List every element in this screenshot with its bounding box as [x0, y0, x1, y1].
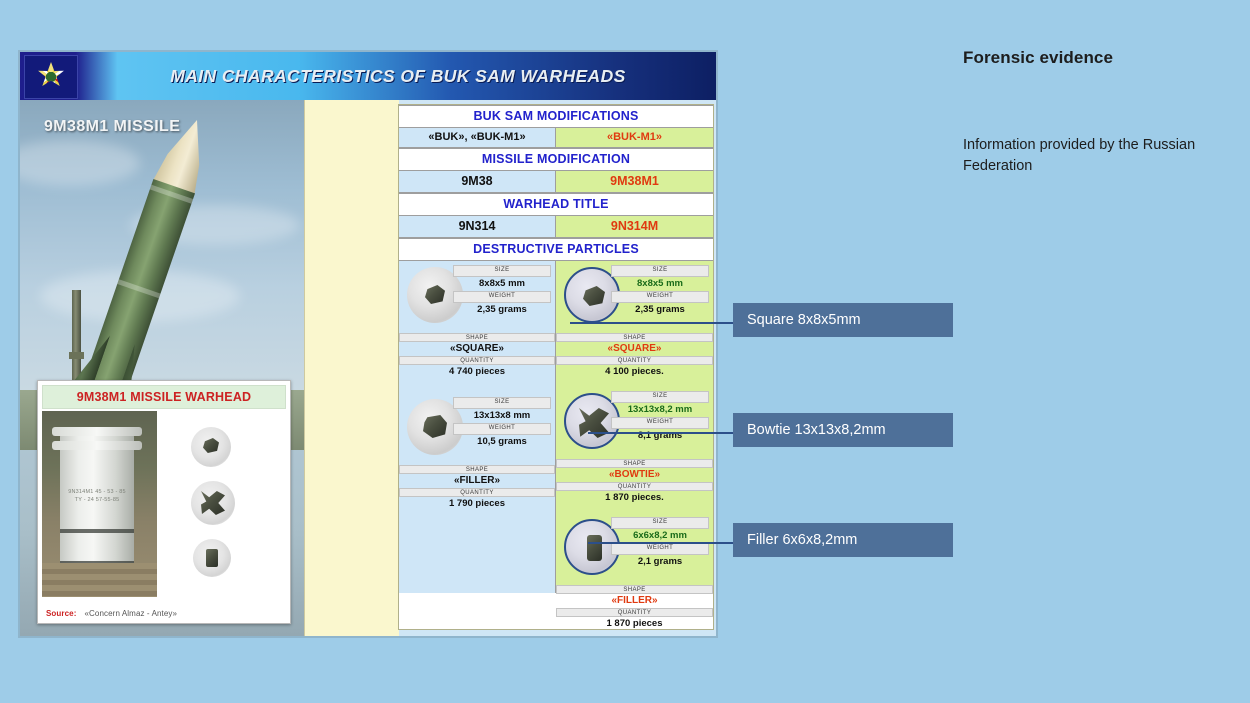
label-weight: weight [611, 543, 709, 555]
particles-column-9n314: size 8x8x5 mm weight 2,35 grams shape «S… [399, 261, 556, 593]
connector-line-square [570, 322, 735, 324]
particle-shape-row: shape «FILLER» quantity 1 790 pieces [399, 465, 555, 511]
table-header-missile-modification: MISSILE MODIFICATION [399, 148, 713, 171]
value-shape: «BOWTIE» [556, 468, 713, 482]
label-quantity: quantity [556, 608, 713, 617]
filler-fragment-icon [587, 535, 602, 561]
value-shape: «FILLER» [556, 594, 713, 608]
canister-ring [60, 529, 134, 533]
table-row: 9N314 9N314M [399, 216, 713, 238]
connector-line-bowtie [588, 432, 735, 434]
particle-visual-row: size 6x6x8,2 mm weight 2,1 grams [556, 513, 713, 585]
particle-group-bowtie-right: size 13x13x8,2 mm weight 8,1 grams shape… [556, 387, 713, 505]
label-shape: shape [399, 333, 555, 342]
missile-caption: 9M38M1 MISSILE [44, 118, 180, 136]
cell-missile-modification-right: 9M38M1 [556, 171, 713, 193]
value-size: 8x8x5 mm [453, 277, 551, 291]
particle-visual-row: size 8x8x5 mm weight 2,35 grams [399, 261, 555, 333]
value-quantity: 1 870 pieces. [556, 491, 713, 505]
particle-group-filler-right: size 6x6x8,2 mm weight 2,1 grams shape «… [556, 513, 713, 631]
label-shape: shape [556, 459, 713, 468]
label-quantity: quantity [399, 356, 555, 365]
label-weight: weight [611, 417, 709, 429]
square-fragment-icon [425, 285, 445, 304]
filler-fragment-icon [423, 415, 447, 438]
label-quantity: quantity [399, 488, 555, 497]
label-size: size [611, 517, 709, 529]
cell-buk-modifications-left: «BUK», «BUK-M1» [399, 128, 556, 148]
emblem-container [24, 55, 78, 99]
filler-fragment-icon [206, 549, 218, 567]
label-size: size [611, 391, 709, 403]
slide-title: MAIN CHARACTERISTICS OF BUK SAM WARHEADS [80, 52, 716, 100]
canister-rim-second [52, 441, 142, 450]
value-quantity: 1 870 pieces [556, 617, 713, 631]
value-weight: 10,5 grams [453, 435, 551, 449]
label-shape: shape [556, 585, 713, 594]
value-weight: 2,35 grams [611, 303, 709, 317]
particle-group-square-right: size 8x8x5 mm weight 2,35 grams shape «S… [556, 261, 713, 379]
presentation-slide: MAIN CHARACTERISTICS OF BUK SAM WARHEADS… [18, 50, 718, 638]
value-shape: «SQUARE» [399, 342, 555, 356]
label-size: size [611, 265, 709, 277]
value-shape: «FILLER» [399, 474, 555, 488]
particle-shape-row: shape «SQUARE» quantity 4 740 pieces [399, 333, 555, 379]
value-quantity: 4 740 pieces [399, 365, 555, 379]
value-quantity: 4 100 pieces. [556, 365, 713, 379]
particle-group-square-left: size 8x8x5 mm weight 2,35 grams shape «S… [399, 261, 555, 379]
particle-fields: size 8x8x5 mm weight 2,35 grams [611, 265, 709, 317]
label-weight: weight [611, 291, 709, 303]
table-row: 9M38 9M38M1 [399, 171, 713, 193]
canister-markings: 9N314M1 45 - 53 - 85 TY - 24 57-55-85 [66, 489, 128, 505]
label-quantity: quantity [556, 356, 713, 365]
value-size: 8x8x5 mm [611, 277, 709, 291]
page-subtitle: Information provided by the Russian Fede… [963, 135, 1213, 176]
canister-rim-top [52, 427, 142, 436]
particle-visual-row: size 13x13x8 mm weight 10,5 grams [399, 393, 555, 465]
missile-photo-panel: 9M38M1 MISSILE 9M38M1 MISSILE WARHEAD 9N… [20, 100, 304, 636]
table-header-destructive-particles: DESTRUCTIVE PARTICLES [399, 238, 713, 261]
cell-warhead-title-right: 9N314M [556, 216, 713, 238]
value-weight: 2,1 grams [611, 555, 709, 569]
table-row: «BUK», «BUK-M1» «BUK-M1» [399, 128, 713, 148]
cell-buk-modifications-right: «BUK-M1» [556, 128, 713, 148]
label-quantity: quantity [556, 482, 713, 491]
connector-line-filler [588, 542, 735, 544]
particle-shape-row: shape «FILLER» quantity 1 870 pieces [556, 585, 713, 631]
label-size: size [453, 397, 551, 409]
wooden-pallet [42, 563, 157, 597]
characteristics-table: BUK SAM MODIFICATIONS «BUK», «BUK-M1» «B… [398, 104, 714, 630]
particle-fields: size 13x13x8 mm weight 10,5 grams [453, 397, 551, 449]
antenna-pole-cap [69, 352, 84, 359]
value-size: 6x6x8,2 mm [611, 529, 709, 543]
cell-missile-modification-left: 9M38 [399, 171, 556, 193]
label-size: size [453, 265, 551, 277]
value-shape: «SQUARE» [556, 342, 713, 356]
page-title: Forensic evidence [963, 48, 1113, 68]
cell-warhead-title-left: 9N314 [399, 216, 556, 238]
warhead-card-body: 9N314M1 45 - 53 - 85 TY - 24 57-55-85 [42, 411, 286, 597]
value-weight: 2,35 grams [453, 303, 551, 317]
value-size: 13x13x8,2 mm [611, 403, 709, 417]
slide-header: MAIN CHARACTERISTICS OF BUK SAM WARHEADS [20, 52, 716, 100]
particle-group-filler-left: size 13x13x8 mm weight 10,5 grams shape … [399, 393, 555, 511]
warhead-source-line: Source:«Concern Almaz - Antey» [46, 609, 286, 618]
particle-visual-row: size 13x13x8,2 mm weight 8,1 grams [556, 387, 713, 459]
warhead-canister-photo: 9N314M1 45 - 53 - 85 TY - 24 57-55-85 [42, 411, 157, 597]
yellow-divider-strip [304, 100, 399, 636]
particle-fields: size 8x8x5 mm weight 2,35 grams [453, 265, 551, 317]
value-size: 13x13x8 mm [453, 409, 551, 423]
warhead-photo-card: 9M38M1 MISSILE WARHEAD 9N314M1 45 - 53 -… [37, 380, 291, 624]
table-header-modifications: BUK SAM MODIFICATIONS [399, 105, 713, 128]
cloud-shape [20, 140, 140, 186]
particle-fields: size 13x13x8,2 mm weight 8,1 grams [611, 391, 709, 443]
callout-square: Square 8x8x5mm [733, 303, 953, 337]
label-weight: weight [453, 291, 551, 303]
source-value: «Concern Almaz - Antey» [85, 609, 178, 618]
value-quantity: 1 790 pieces [399, 497, 555, 511]
callout-bowtie: Bowtie 13x13x8,2mm [733, 413, 953, 447]
particle-shape-row: shape «SQUARE» quantity 4 100 pieces. [556, 333, 713, 379]
callout-filler: Filler 6x6x8,2mm [733, 523, 953, 557]
fragment-samples-panel [157, 411, 286, 597]
particle-shape-row: shape «BOWTIE» quantity 1 870 pieces. [556, 459, 713, 505]
source-label: Source: [46, 609, 77, 618]
warhead-card-title: 9M38M1 MISSILE WARHEAD [42, 385, 286, 409]
label-shape: shape [556, 333, 713, 342]
military-emblem-icon [36, 62, 66, 92]
table-header-warhead-title: WARHEAD TITLE [399, 193, 713, 216]
square-fragment-icon [583, 286, 605, 306]
label-shape: shape [399, 465, 555, 474]
label-weight: weight [453, 423, 551, 435]
